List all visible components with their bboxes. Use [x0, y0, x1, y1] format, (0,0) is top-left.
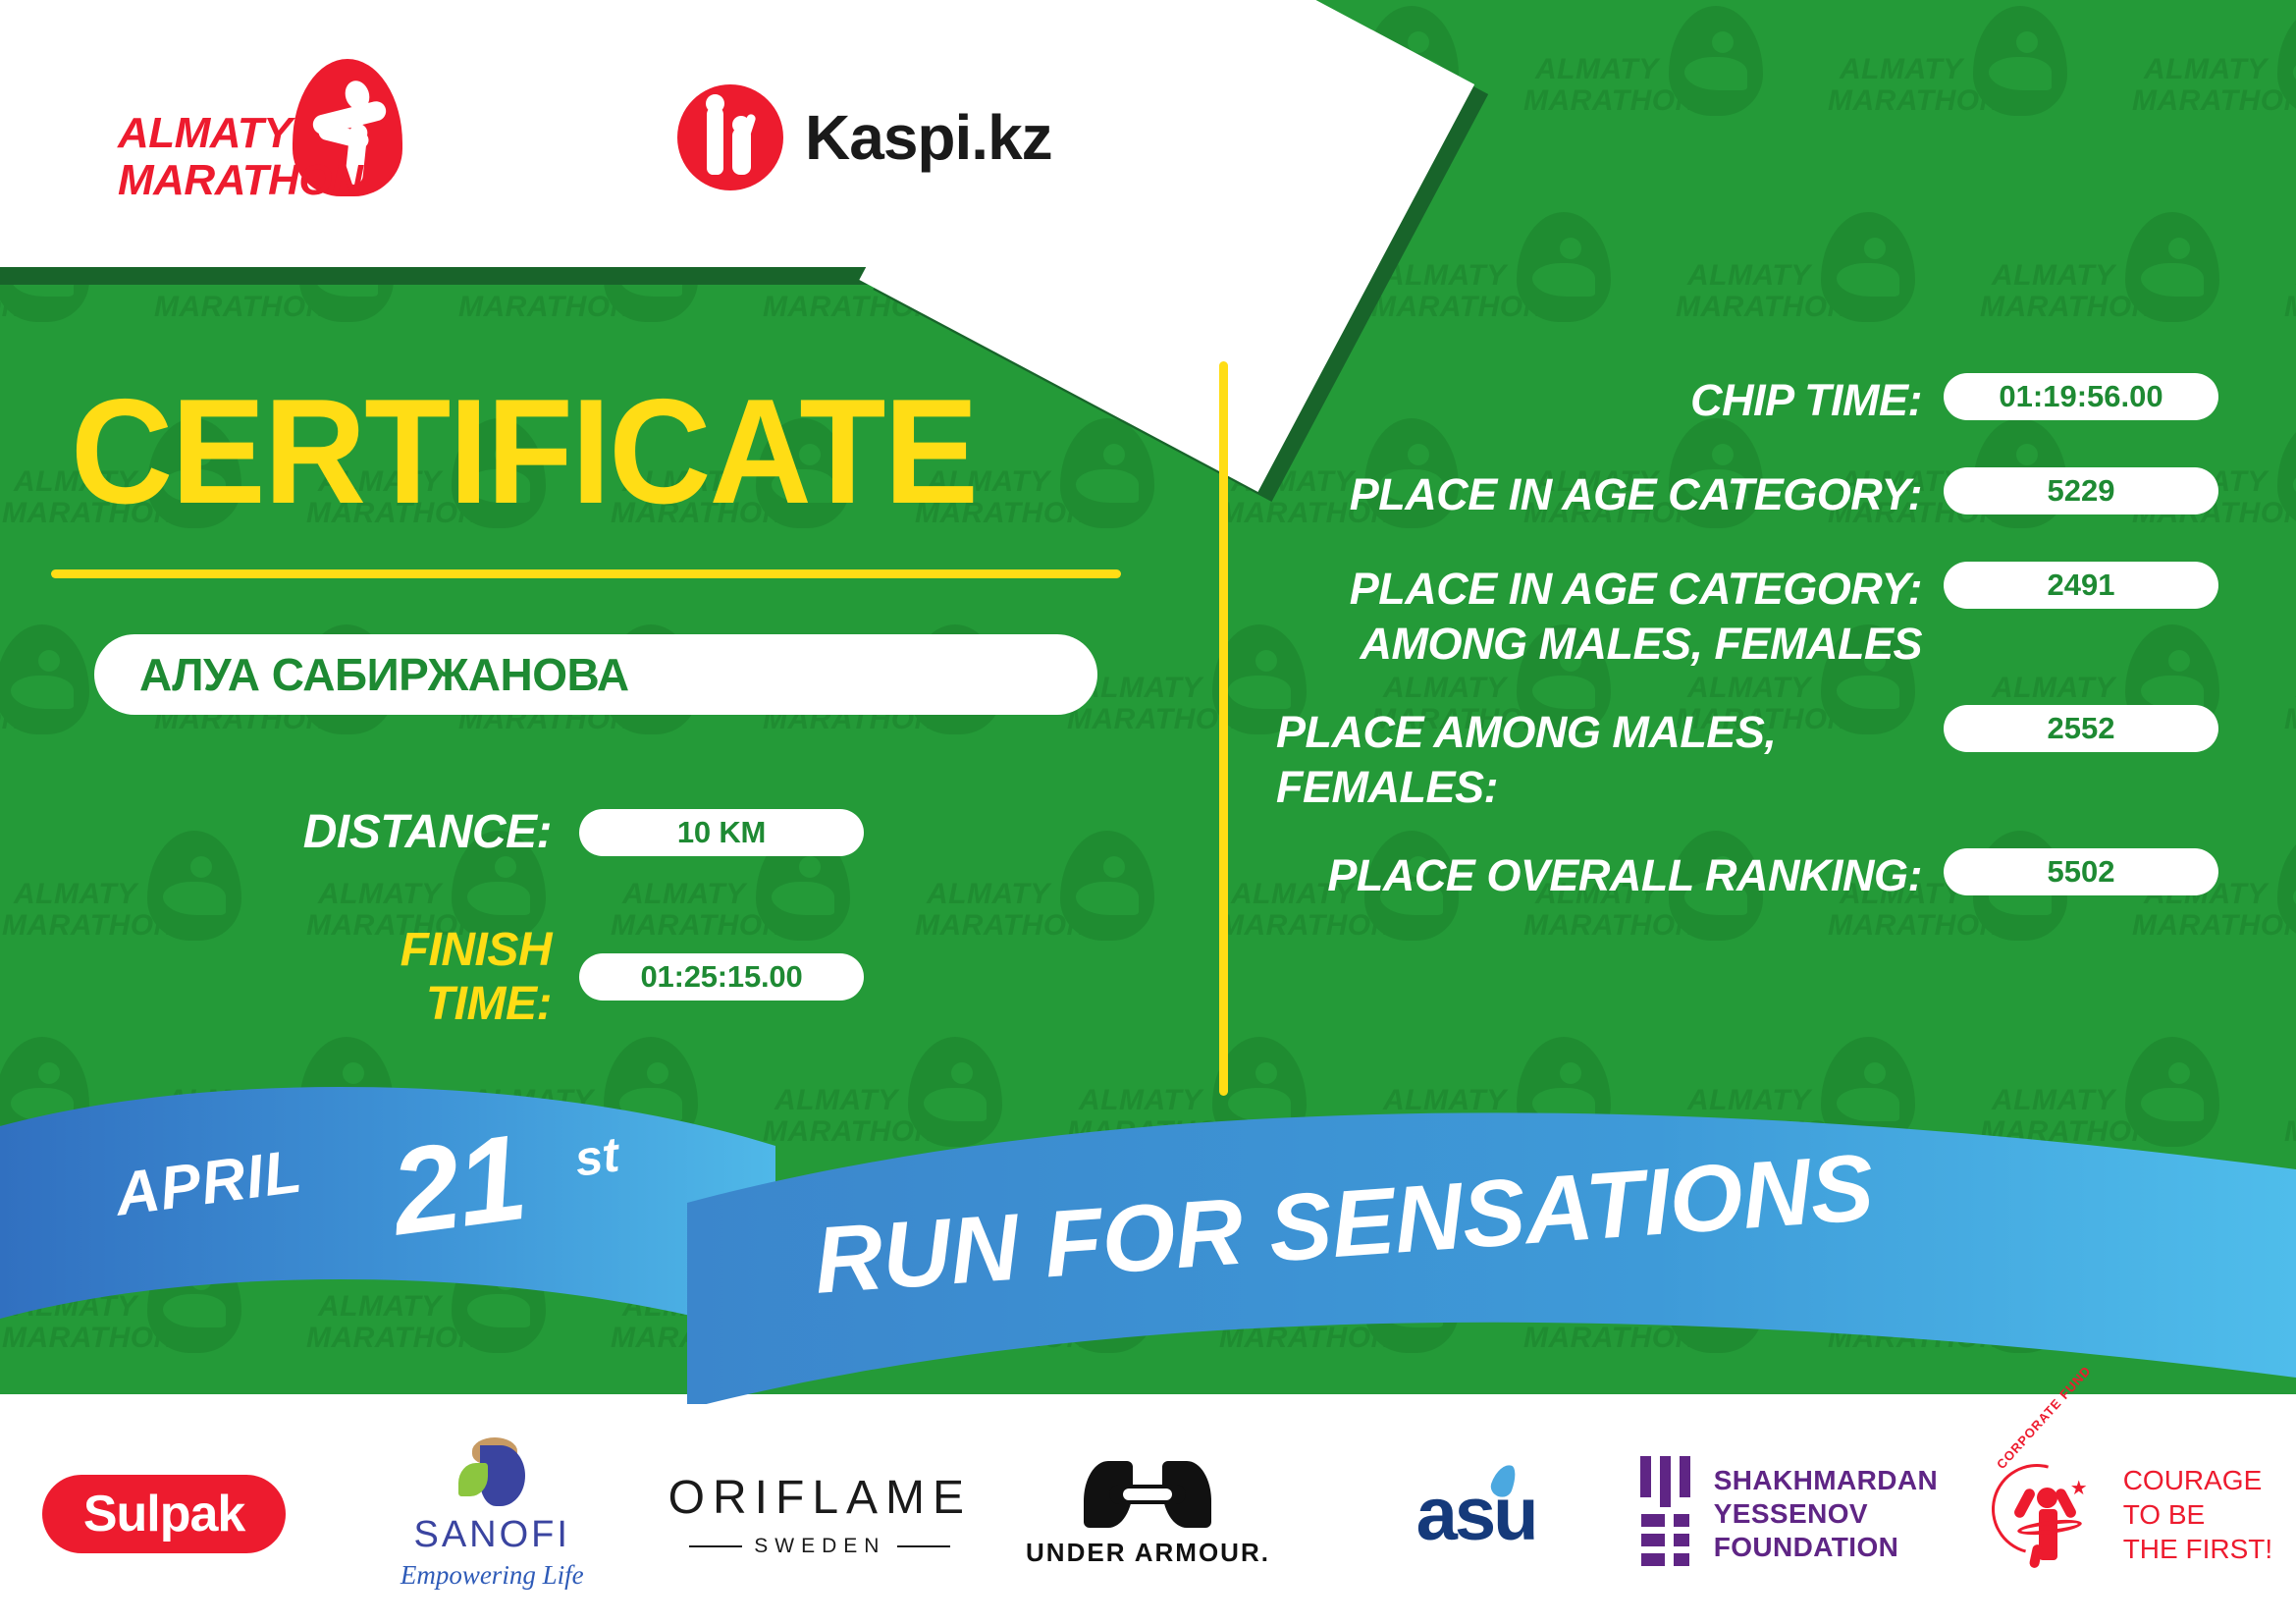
almaty-marathon-logo-text: ALMATY MARATHON	[118, 110, 362, 204]
chip-time-label: CHIP TIME:	[1276, 373, 1944, 428]
courage-star-icon: ★	[2070, 1476, 2088, 1500]
watermark-line1: ALMATY	[622, 878, 746, 911]
ribbon-day-ordinal: st	[571, 1125, 622, 1187]
watermark-line2: MARATHON	[2284, 1115, 2296, 1149]
sponsor-oriflame: ORIFLAME SWEDEN	[656, 1431, 984, 1597]
oriflame-rule-left	[689, 1545, 742, 1547]
watermark-line2: MARATHON	[1980, 291, 2154, 324]
sponsor-sanofi: SANOFI Empowering Life	[328, 1431, 656, 1597]
place-overall-label: PLACE OVERALL RANKING:	[1276, 848, 1944, 903]
watermark-line1: ALMATY	[318, 878, 442, 911]
finish-time-value: 01:25:15.00	[579, 953, 864, 1001]
watermark-line2: MARATHON	[1067, 703, 1241, 736]
watermark-line2: MARATHON	[1219, 1322, 1393, 1355]
watermark-line1: ALMATY	[1079, 1084, 1202, 1117]
watermark-runner-drop-icon	[147, 831, 241, 941]
yessenov-mark-icon	[1640, 1456, 1690, 1573]
yessenov-bar-3-icon	[1680, 1456, 1690, 1497]
yessenov-bar-1-icon	[1640, 1456, 1651, 1497]
participant-name-field: АЛУА САБИРЖАНОВА	[94, 634, 1097, 715]
yessenov-block-1-icon	[1641, 1514, 1665, 1527]
sanofi-tagline: Empowering Life	[400, 1560, 584, 1591]
courage-line3: THE FIRST!	[2123, 1532, 2272, 1566]
place-age-category-gender-value: 2491	[1944, 562, 2218, 609]
watermark-line2: MARATHON	[1371, 291, 1545, 324]
almaty-marathon-logo: ALMATY MARATHON	[118, 59, 442, 216]
almaty-logo-line1: ALMATY	[118, 110, 362, 157]
under-armour-logo-text: UNDER ARMOUR.	[1026, 1538, 1270, 1568]
watermark-tile: ALMATYMARATHON	[2282, 1031, 2296, 1237]
watermark-line1: ALMATY	[1840, 53, 1963, 86]
distance-value: 10 KM	[579, 809, 864, 856]
stat-row-place-overall: PLACE OVERALL RANKING: 5502	[1276, 848, 2218, 909]
courage-head-icon	[2037, 1488, 2057, 1508]
chip-time-value: 01:19:56.00	[1944, 373, 2218, 420]
vertical-divider	[1219, 361, 1228, 1096]
watermark-line2: MARATHON	[2132, 84, 2296, 118]
distance-label: DISTANCE:	[267, 805, 552, 859]
watermark-runner-drop-icon	[0, 624, 89, 734]
sponsor-courage-fund: CORPORATE FUND ★ COURAGE TO BE THE FIRST…	[1968, 1431, 2296, 1597]
place-overall-value: 5502	[1944, 848, 2218, 895]
watermark-line1: ALMATY	[1535, 53, 1659, 86]
kaspi-people-icon	[677, 84, 783, 190]
watermark-runner-drop-icon	[2277, 831, 2296, 941]
courage-line2: TO BE	[2123, 1497, 2272, 1532]
yessenov-block-6-icon	[1674, 1553, 1689, 1566]
oriflame-rule-right	[897, 1545, 950, 1547]
watermark-line2: MARATHON	[2, 909, 176, 943]
watermark-tile: ALMATYMARATHON	[1826, 0, 2130, 206]
watermark-runner-drop-icon	[1060, 418, 1154, 528]
watermark-runner-drop-icon	[2277, 418, 2296, 528]
watermark-line2: MARATHON	[0, 291, 24, 324]
kaspi-adult-body-icon	[707, 106, 723, 175]
watermark-line1: ALMATY	[1231, 1290, 1355, 1324]
participant-name-value: АЛУА САБИРЖАНОВА	[94, 648, 629, 701]
stat-row-place-age-category-gender: PLACE IN AGE CATEGORY: AMONG MALES, FEMA…	[1276, 562, 2218, 672]
watermark-runner-drop-icon	[2277, 6, 2296, 116]
watermark-line2: MARATHON	[0, 703, 24, 736]
finish-time-label: FINISH TIME:	[267, 923, 552, 1031]
watermark-line2: MARATHON	[1067, 1115, 1241, 1149]
watermark-runner-drop-icon	[1821, 212, 1915, 322]
yessenov-block-4-icon	[1674, 1534, 1689, 1546]
sponsor-yessenov-foundation: SHAKHMARDAN YESSENOV FOUNDATION	[1640, 1431, 1968, 1597]
watermark-line1: ALMATY	[14, 878, 137, 911]
sanofi-logo-text: SANOFI	[400, 1514, 584, 1556]
kaspi-logo-text: Kaspi.kz	[805, 101, 1052, 174]
watermark-line1: ALMATY	[1687, 1084, 1811, 1117]
watermark-line2: MARATHON	[1523, 1322, 1697, 1355]
watermark-line2: MARATHON	[2284, 291, 2296, 324]
yessenov-block-5-icon	[1641, 1553, 1665, 1566]
yessenov-bar-2-icon	[1660, 1456, 1671, 1507]
watermark-runner-drop-icon	[1517, 1037, 1611, 1147]
watermark-runner-drop-icon	[1060, 831, 1154, 941]
title-underline-rule	[51, 569, 1121, 578]
under-armour-mark-icon	[1084, 1461, 1211, 1528]
watermark-line1: ALMATY	[1383, 259, 1507, 293]
stat-row-place-age-category: PLACE IN AGE CATEGORY: 5229	[1276, 467, 2218, 528]
stats-list: CHIP TIME: 01:19:56.00 PLACE IN AGE CATE…	[1276, 373, 2218, 943]
watermark-line2: MARATHON	[2, 1322, 176, 1355]
yessenov-logo-line1: SHAKHMARDAN YESSENOV	[1714, 1464, 1968, 1531]
watermark-line2: MARATHON	[1676, 291, 1849, 324]
watermark-line2: MARATHON	[915, 909, 1089, 943]
watermark-runner-drop-icon	[604, 1037, 698, 1147]
watermark-line1: ALMATY	[927, 878, 1050, 911]
watermark-runner-drop-icon	[1973, 6, 2067, 116]
place-age-category-label: PLACE IN AGE CATEGORY:	[1276, 467, 1944, 522]
watermark-line1: ALMATY	[1687, 259, 1811, 293]
watermark-line2: MARATHON	[763, 1115, 936, 1149]
place-age-category-value: 5229	[1944, 467, 2218, 514]
place-among-gender-value: 2552	[1944, 705, 2218, 752]
watermark-line1: ALMATY	[1992, 1084, 2115, 1117]
courage-line1: COURAGE	[2123, 1463, 2272, 1497]
watermark-runner-drop-icon	[299, 1037, 394, 1147]
sanofi-mark-icon	[451, 1437, 533, 1508]
watermark-line2: MARATHON	[1828, 84, 2002, 118]
watermark-runner-drop-icon	[1669, 1243, 1763, 1353]
watermark-runner-drop-icon	[452, 1243, 546, 1353]
sponsor-bar: Sulpak SANOFI Empowering Life ORIFLAME S…	[0, 1404, 2296, 1624]
watermark-tile: ALMATYMARATHON	[2282, 619, 2296, 825]
watermark-line1: ALMATY	[2144, 53, 2268, 86]
watermark-line2: MARATHON	[611, 1322, 784, 1355]
watermark-runner-drop-icon	[1973, 1243, 2067, 1353]
sponsor-asu: asu	[1312, 1431, 1640, 1597]
yessenov-block-2-icon	[1674, 1514, 1689, 1527]
stat-row-chip-time: CHIP TIME: 01:19:56.00	[1276, 373, 2218, 434]
watermark-line1: ALMATY	[1992, 259, 2115, 293]
watermark-runner-drop-icon	[0, 1037, 89, 1147]
oriflame-logo-text: ORIFLAME	[668, 1471, 972, 1525]
yessenov-logo-line2: FOUNDATION	[1714, 1531, 1968, 1564]
yessenov-block-3-icon	[1641, 1534, 1665, 1546]
watermark-runner-drop-icon	[2125, 212, 2219, 322]
watermark-line2: MARATHON	[915, 1322, 1089, 1355]
watermark-line1: ALMATY	[1535, 1290, 1659, 1324]
watermark-runner-drop-icon	[1821, 1037, 1915, 1147]
watermark-tile: ALMATYMARATHON	[2282, 206, 2296, 412]
watermark-tile: ALMATYMARATHON	[0, 825, 304, 1031]
watermark-runner-drop-icon	[1669, 6, 1763, 116]
watermark-line1: ALMATY	[2144, 1290, 2268, 1324]
watermark-line2: MARATHON	[458, 291, 632, 324]
place-age-category-gender-label: PLACE IN AGE CATEGORY: AMONG MALES, FEMA…	[1276, 562, 1944, 672]
asu-logo-text: asu	[1416, 1473, 1536, 1556]
watermark-line2: MARATHON	[0, 1115, 24, 1149]
watermark-line2: MARATHON	[1371, 1115, 1545, 1149]
oriflame-sub-text: SWEDEN	[754, 1535, 885, 1558]
certificate-page: ALMATYMARATHONALMATYMARATHONALMATYMARATH…	[0, 0, 2296, 1624]
watermark-line1: ALMATY	[166, 1084, 290, 1117]
sponsor-sulpak: Sulpak	[0, 1431, 328, 1597]
watermark-tile: ALMATYMARATHON	[1522, 0, 1826, 206]
watermark-line1: ALMATY	[622, 1290, 746, 1324]
watermark-line2: MARATHON	[306, 1322, 480, 1355]
watermark-line1: ALMATY	[14, 1290, 137, 1324]
watermark-runner-drop-icon	[147, 1243, 241, 1353]
watermark-line2: MARATHON	[2132, 1322, 2296, 1355]
watermark-line2: MARATHON	[1523, 84, 1697, 118]
courage-mark-icon: CORPORATE FUND ★	[1992, 1460, 2108, 1568]
watermark-tile: ALMATYMARATHON	[913, 825, 1217, 1031]
place-among-gender-label: PLACE AMONG MALES, FEMALES:	[1276, 705, 1944, 815]
ua-center-hole-icon	[1123, 1489, 1172, 1500]
watermark-line2: MARATHON	[1980, 1115, 2154, 1149]
watermark-line1: ALMATY	[318, 1290, 442, 1324]
distance-row: DISTANCE: 10 KM	[267, 805, 864, 859]
watermark-line2: MARATHON	[154, 291, 328, 324]
sulpak-logo-text: Sulpak	[42, 1475, 287, 1553]
watermark-runner-drop-icon	[2277, 1243, 2296, 1353]
watermark-runner-drop-icon	[2125, 1037, 2219, 1147]
watermark-tile: ALMATYMARATHON	[2130, 0, 2296, 206]
asu-logo-text-wrap: asu	[1416, 1472, 1536, 1557]
watermark-line1: ALMATY	[1383, 1084, 1507, 1117]
watermark-line2: MARATHON	[1828, 1322, 2002, 1355]
watermark-runner-drop-icon	[1517, 212, 1611, 322]
watermark-tile: ALMATYMARATHON	[1978, 1031, 2282, 1237]
almaty-logo-line2: MARATHON	[118, 157, 362, 204]
watermark-line1: ALMATY	[774, 1084, 898, 1117]
page-title: CERTIFICATE	[71, 373, 977, 530]
kaspi-logo: Kaspi.kz	[677, 84, 1052, 190]
watermark-line2: MARATHON	[2284, 703, 2296, 736]
watermark-runner-drop-icon	[908, 1037, 1002, 1147]
ribbon-day-number: 21	[384, 1108, 532, 1263]
watermark-line1: ALMATY	[1840, 1290, 1963, 1324]
finish-time-row: FINISH TIME: 01:25:15.00	[267, 923, 864, 1031]
stat-row-place-among-gender: PLACE AMONG MALES, FEMALES: 2552	[1276, 705, 2218, 815]
sponsor-under-armour: UNDER ARMOUR.	[984, 1431, 1311, 1597]
